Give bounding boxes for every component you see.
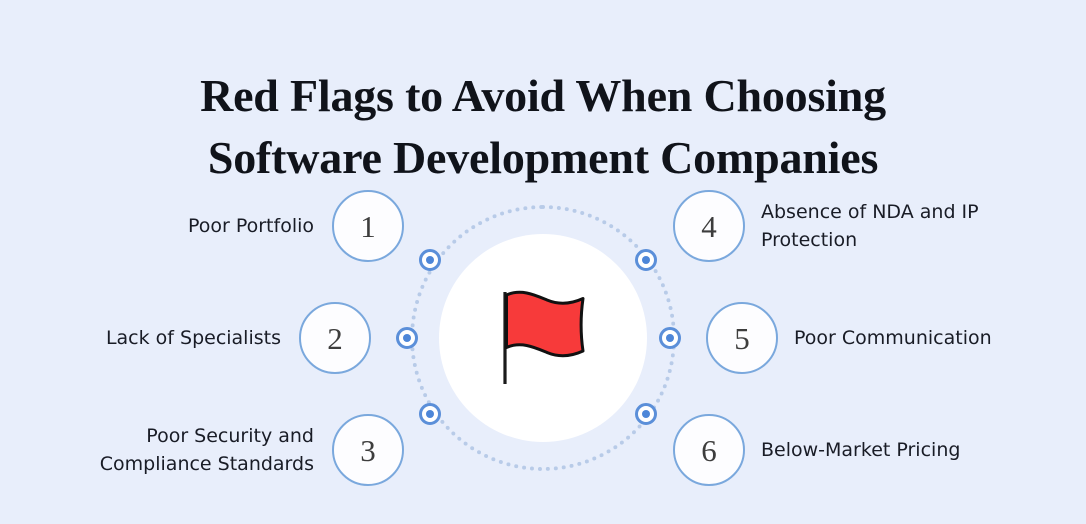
- infographic-canvas: Red Flags to Avoid When Choosing Softwar…: [0, 0, 1086, 524]
- ring-marker-2: [396, 327, 418, 349]
- red-flag-icon: [495, 286, 595, 390]
- item-number-1: 1: [360, 211, 376, 242]
- item-label-1: Poor Portfolio: [14, 212, 314, 240]
- page-title-line-2: Software Development Companies: [0, 127, 1086, 189]
- item-number-6: 6: [701, 435, 717, 466]
- item-number-circle-3[interactable]: 3: [332, 414, 404, 486]
- page-title-line-1: Red Flags to Avoid When Choosing: [0, 65, 1086, 127]
- item-label-5: Poor Communication: [794, 324, 1074, 352]
- ring-marker-5: [659, 327, 681, 349]
- item-label-4: Absence of NDA and IP Protection: [761, 198, 1061, 254]
- item-number-5: 5: [734, 323, 750, 354]
- ring-marker-4: [635, 249, 657, 271]
- item-number-2: 2: [327, 323, 343, 354]
- item-label-3: Poor Security and Compliance Standards: [0, 422, 314, 478]
- item-number-circle-4[interactable]: 4: [673, 190, 745, 262]
- page-title: Red Flags to Avoid When Choosing Softwar…: [0, 65, 1086, 189]
- item-number-4: 4: [701, 211, 717, 242]
- item-label-6: Below-Market Pricing: [761, 436, 1061, 464]
- item-number-3: 3: [360, 435, 376, 466]
- item-number-circle-1[interactable]: 1: [332, 190, 404, 262]
- item-number-circle-5[interactable]: 5: [706, 302, 778, 374]
- ring-marker-1: [419, 249, 441, 271]
- item-label-2: Lack of Specialists: [0, 324, 281, 352]
- item-number-circle-2[interactable]: 2: [299, 302, 371, 374]
- item-number-circle-6[interactable]: 6: [673, 414, 745, 486]
- ring-marker-3: [419, 403, 441, 425]
- ring-marker-6: [635, 403, 657, 425]
